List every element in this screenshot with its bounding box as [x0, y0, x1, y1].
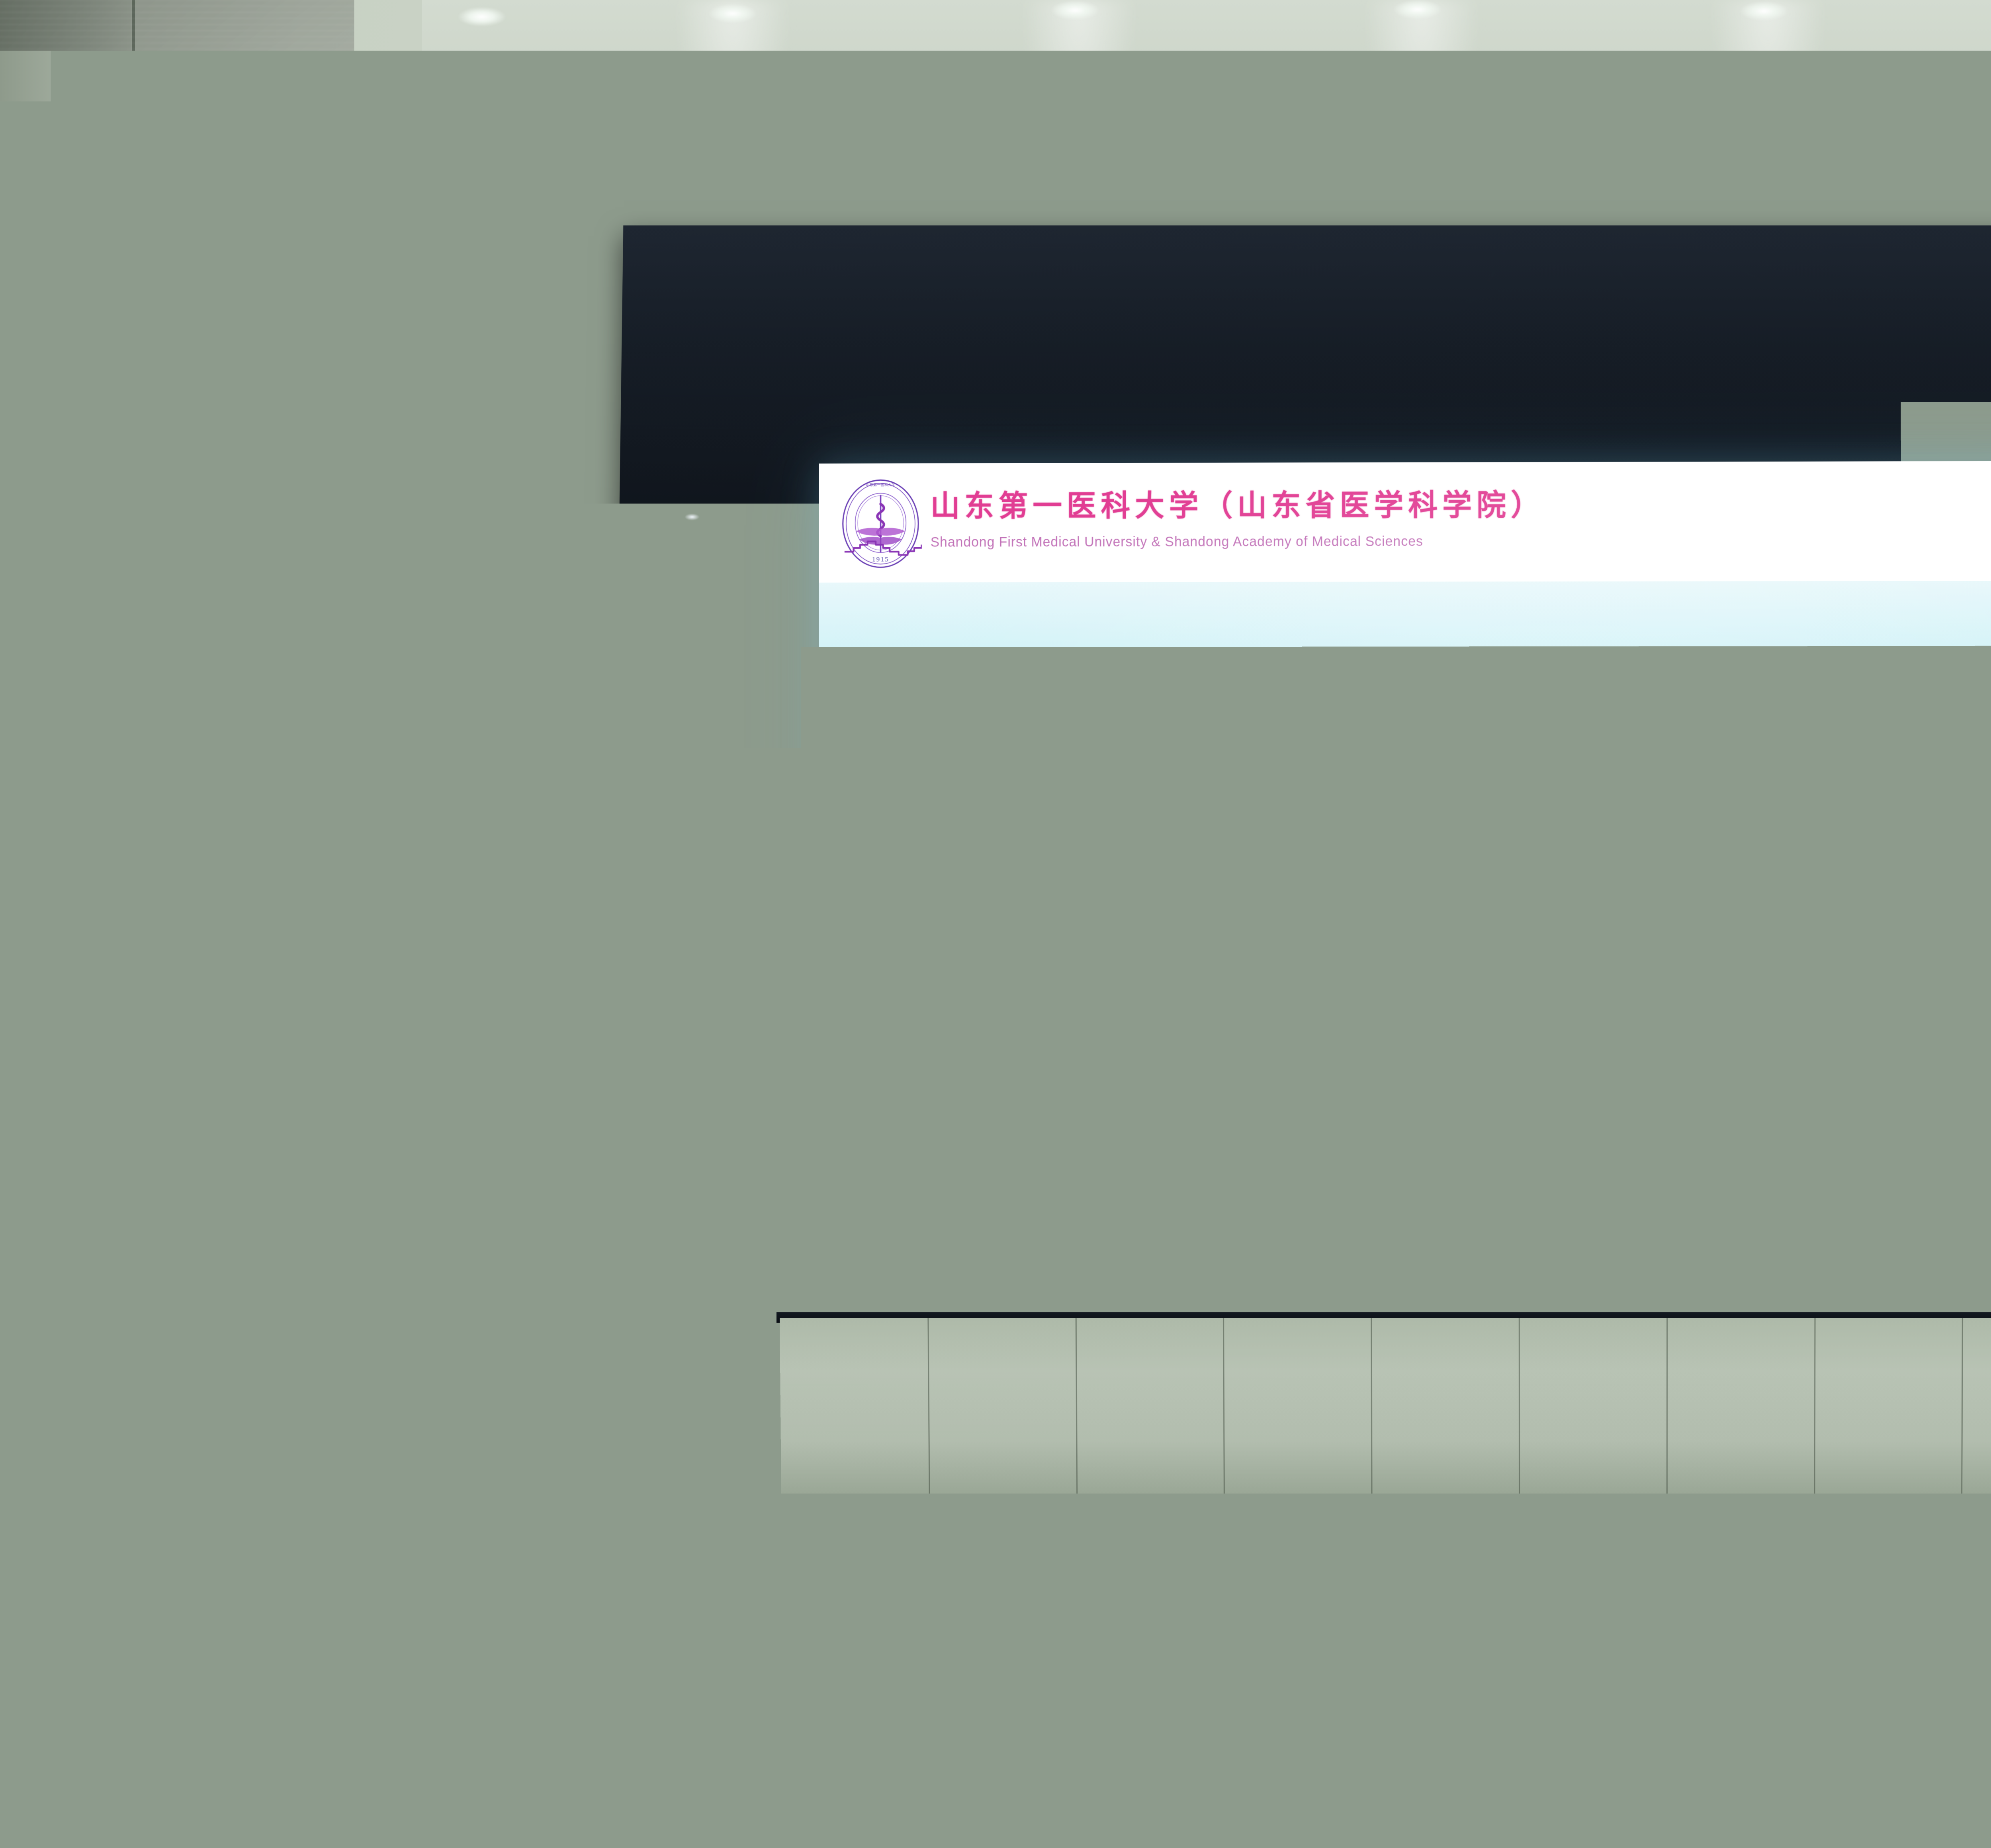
- valance-light-icon: [1201, 299, 1219, 308]
- slide-title: 2025级新生见面会暨开学第一课: [819, 678, 1991, 788]
- university-seal-podium: 1915: [530, 1274, 605, 1350]
- seat-number-tag: 11: [540, 1744, 574, 1772]
- seat-number-tag: 14: [1971, 1545, 1991, 1570]
- ceiling-downlight-icon: [458, 7, 506, 26]
- slide-date: 2025年9月2日: [819, 908, 1991, 952]
- seat[interactable]: [936, 1830, 1143, 1848]
- ceiling-downlight-icon: [1051, 1, 1099, 20]
- audience-head: [645, 1621, 753, 1772]
- campus-sculpture: [1216, 1222, 1348, 1260]
- audience-head: [1629, 1426, 1705, 1518]
- audience-head: [773, 1427, 850, 1521]
- seat[interactable]: [1625, 1564, 1776, 1658]
- valance-light-icon: [1756, 299, 1774, 308]
- university-name-en: Shandong First Medical University & Shan…: [931, 533, 1527, 550]
- audience-head: [1230, 1515, 1315, 1626]
- ceiling-downlight-icon: [709, 4, 757, 23]
- campus-tree: [1025, 1030, 1136, 1225]
- audience-area: 13 14 11 12 13 14: [0, 1346, 1991, 1848]
- campus-tree: [1956, 1039, 1991, 1227]
- auditorium-screenshot: 1915 山东第一医科大学 山东第一医科大学（山东省医学科学院） Shandon…: [0, 0, 1991, 1848]
- audience-head: [896, 1517, 980, 1627]
- university-name-cn: 山东第一医科大学（山东省医学科学院）: [931, 481, 1545, 525]
- svg-text:1915: 1915: [560, 1338, 575, 1344]
- audience-head: [422, 1619, 534, 1786]
- campus-tree: [1120, 1074, 1199, 1225]
- seat[interactable]: [1752, 1834, 1959, 1848]
- slide-header: 1915 山东第一医科大学 山东第一医科大学（山东省医学科学院） Shandon…: [819, 460, 1991, 583]
- seat[interactable]: [1322, 1832, 1529, 1848]
- seat-number-tag: 13: [1627, 1542, 1658, 1567]
- speaker-hair: [514, 1056, 593, 1100]
- seat[interactable]: [247, 1824, 454, 1848]
- valance-light-icon: [645, 299, 663, 308]
- audience-head: [239, 1621, 354, 1788]
- audience-head: [221, 1431, 303, 1530]
- svg-text:1915: 1915: [872, 555, 889, 563]
- campus-bollard: [827, 1176, 840, 1251]
- seat[interactable]: [28, 1466, 159, 1549]
- audience-head: [1071, 1516, 1153, 1620]
- audience-head: [1816, 1427, 1895, 1525]
- audience-head: [476, 1429, 555, 1527]
- audience-head: [944, 1426, 1023, 1525]
- campus-bollard: [863, 1176, 876, 1251]
- acoustic-panel: [651, 928, 711, 1059]
- audience-head: [1386, 1623, 1493, 1776]
- slide-subtitle: 医药管理学院: [819, 812, 1991, 899]
- wall-left-return: [0, 0, 131, 1498]
- ceiling-downlight-icon: [1740, 2, 1788, 21]
- valance-light-icon: [1062, 299, 1080, 308]
- audience-head: [1011, 1621, 1119, 1773]
- audience-head: [1816, 1517, 1900, 1628]
- valance-light-icon: [923, 299, 941, 308]
- audience-head: [1744, 1625, 1856, 1792]
- valance-light-icon: [1895, 299, 1913, 308]
- audience-head: [293, 1505, 382, 1621]
- svg-text:山东第一医科大学: 山东第一医科大学: [866, 482, 895, 487]
- audience-head: [546, 1517, 631, 1627]
- acoustic-panel: [654, 1155, 714, 1274]
- campus-sculpture: [1496, 1161, 1614, 1261]
- ceiling-downlight-icon: [1394, 0, 1441, 19]
- campus-sculpture: [1762, 1223, 1895, 1261]
- audience-head: [1179, 1425, 1254, 1517]
- valance-light-icon: [1479, 299, 1497, 308]
- valance-light-icon: [784, 299, 802, 308]
- wall-seam: [420, 131, 423, 1446]
- university-seal-logo: 1915 山东第一医科大学: [839, 478, 922, 569]
- projection-screen[interactable]: 1915 山东第一医科大学 山东第一医科大学（山东省医学科学院） Shandon…: [819, 460, 1991, 1336]
- slide-header-text: 山东第一医科大学（山东省医学科学院） Shandong First Medica…: [931, 481, 1545, 550]
- presentation-slide: 1915 山东第一医科大学 山东第一医科大学（山东省医学科学院） Shandon…: [819, 460, 1991, 1336]
- audience-head: [729, 1517, 810, 1621]
- wall-seam: [132, 0, 135, 1474]
- audience-head: [1402, 1516, 1483, 1620]
- seat[interactable]: [0, 1824, 175, 1848]
- acoustic-panel: [649, 701, 709, 832]
- valance-light-icon: [1340, 299, 1358, 308]
- seat[interactable]: [1453, 1458, 1585, 1544]
- wall-notice-frame: [52, 1131, 113, 1227]
- valance-light-strip: [645, 297, 1991, 310]
- valance-light-icon: [1617, 299, 1635, 308]
- campus-illustration: [819, 912, 1991, 1336]
- audience-head: [1358, 1424, 1438, 1524]
- seat[interactable]: [577, 1828, 784, 1848]
- valance-light-icon: [685, 514, 699, 520]
- audience-head: [406, 1478, 482, 1561]
- seat[interactable]: [1887, 1463, 1991, 1548]
